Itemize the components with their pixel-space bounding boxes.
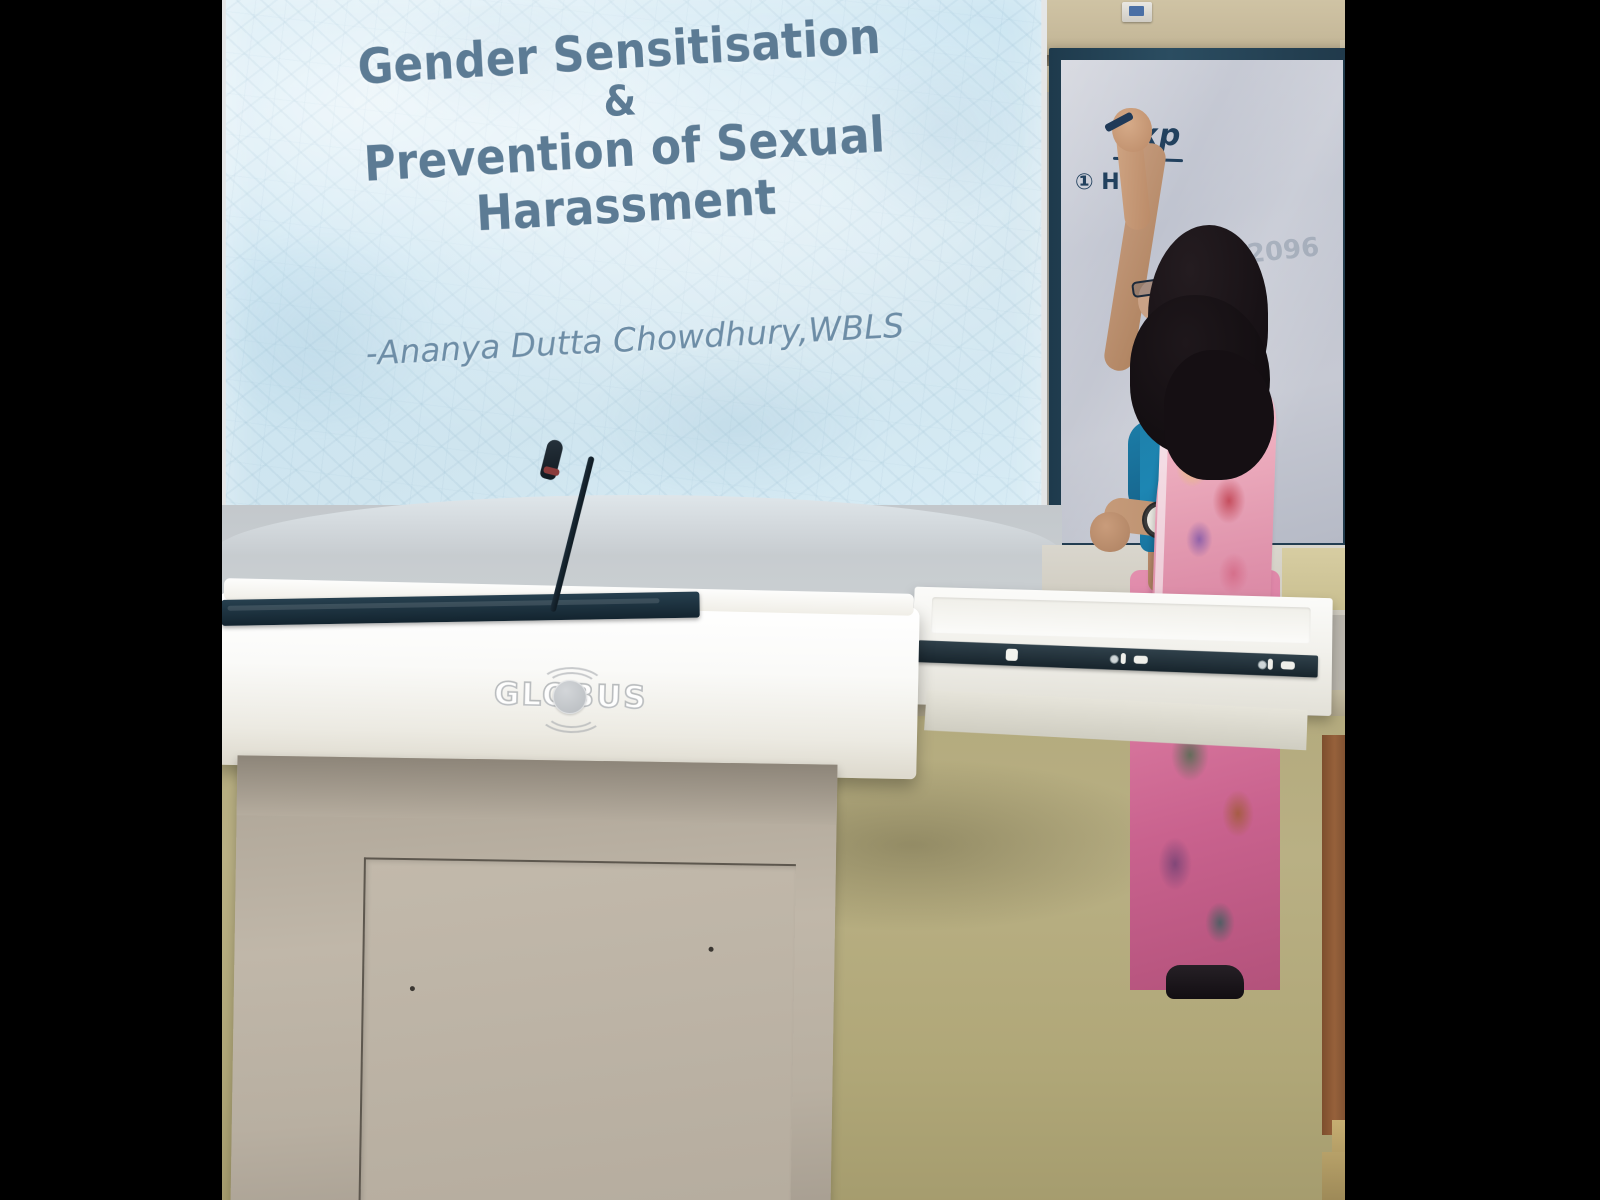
letterbox-left: [0, 0, 222, 1200]
control-pill-right[interactable]: [1281, 661, 1295, 670]
globe-arc-bottom-2: [538, 694, 605, 734]
letterbox-right: [1345, 0, 1600, 1200]
photo-stage: 8 7 6 5 4 Exp ① H 2096: [0, 0, 1600, 1200]
slide-title: Gender Sensitisation & Prevention of Sex…: [222, 0, 1039, 256]
lectern-access-panel[interactable]: [358, 857, 796, 1200]
lectern-body-top-shade: [237, 755, 838, 824]
presenter-left-hand: [1090, 512, 1130, 552]
table-inset-panel: [931, 597, 1311, 643]
panel-screw-left: [410, 986, 415, 991]
projection-screen: Gender Sensitisation & Prevention of Sex…: [226, 0, 1042, 549]
slide-content: Gender Sensitisation & Prevention of Sex…: [222, 0, 1056, 564]
slide-author: -Ananya Dutta Chowdhury,WBLS: [229, 298, 1046, 379]
control-square-button[interactable]: [1006, 649, 1019, 661]
table-control-strip[interactable]: [917, 640, 1318, 677]
mic-rail-highlight: [228, 598, 660, 611]
control-led-left: [1110, 655, 1119, 664]
panel-screw-right: [709, 947, 714, 952]
control-led-right: [1258, 660, 1267, 669]
globus-logo: GLOBUS: [475, 669, 666, 728]
presenter-shoe: [1166, 965, 1244, 999]
photograph: 8 7 6 5 4 Exp ① H 2096: [222, 0, 1345, 1200]
presenter-hair-low: [1164, 350, 1274, 480]
control-pill-left[interactable]: [1134, 655, 1148, 664]
control-toggle-right[interactable]: [1268, 659, 1273, 670]
control-toggle-left[interactable]: [1121, 653, 1126, 664]
lectern-top: GLOBUS: [222, 593, 920, 780]
lectern-body: [231, 755, 838, 1200]
control-table: [910, 587, 1333, 716]
wall-switch-plate[interactable]: [1122, 2, 1152, 22]
wooden-base-lower: [1322, 1152, 1345, 1200]
presenter: [1068, 120, 1298, 900]
wooden-post: [1322, 735, 1345, 1135]
